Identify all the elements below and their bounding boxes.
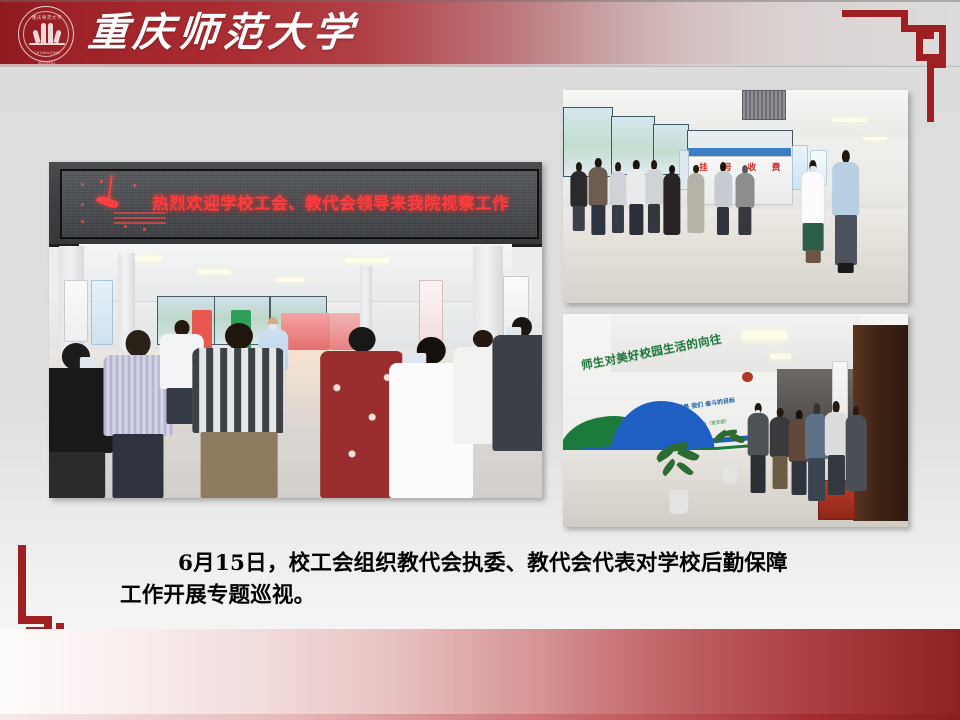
slide-footer-band: [0, 629, 960, 720]
canteen-inspection-photo: 热烈欢迎学校工会、教代会领导来我院视察工作: [49, 162, 542, 498]
person-attendee: [192, 323, 286, 498]
led-banner-screen: 热烈欢迎学校工会、教代会领导来我院视察工作: [60, 169, 539, 240]
person-visitor: [846, 406, 867, 491]
corridor-ceiling: [611, 314, 859, 372]
person-visitor: [610, 162, 627, 232]
person-attendee: [493, 317, 542, 451]
clinic-air-duct: [742, 90, 785, 120]
caption-line-1: 6月15日，校工会组织教代会执委、教代会代表对学校后勤保障: [178, 551, 788, 576]
person-visitor: [646, 160, 663, 232]
mural-emblem: [742, 372, 752, 383]
university-name-wordmark: 重庆师范大学: [85, 4, 360, 62]
presentation-slide: 重庆师范大学 CHONGQING NORMAL UNIVERSITY 重庆师范大…: [0, 0, 960, 720]
person-visitor: [589, 158, 608, 235]
footer-base-line: [0, 714, 960, 720]
person-visitor: [825, 401, 847, 495]
person-visitor: [748, 403, 769, 492]
counter-sign-char: 费: [772, 161, 781, 173]
person-visitor: [687, 165, 704, 233]
canteen-ceiling: [79, 244, 513, 302]
person-visitor: [627, 160, 646, 235]
caption-line-2: 工作开展专题巡视。: [120, 583, 315, 608]
person-visitor: [736, 165, 755, 235]
seal-flame-mark: [33, 19, 61, 43]
person-visitor: [715, 162, 732, 234]
potted-plant: [711, 429, 749, 484]
seal-ring-text-bottom: CHONGQING NORMAL UNIVERSITY: [25, 48, 69, 58]
person-visitor: [570, 162, 587, 230]
potted-plant: [653, 442, 705, 514]
person-guide: [832, 150, 860, 274]
led-banner-text: 热烈欢迎学校工会、教代会领导来我院视察工作: [152, 190, 532, 214]
led-arrow-graphic: [108, 175, 113, 203]
slide-caption: 6月15日，校工会组织教代会执委、教代会代表对学校后勤保障 工作开展专题巡视。: [120, 548, 880, 612]
corridor-mural-photo: 师生对美好校园生活的向往 就是 我们 奋斗的目标 后勤与资产管理处（党支部）: [563, 314, 908, 527]
header-top-rule: [0, 0, 960, 2]
university-seal-icon: 重庆师范大学 CHONGQING NORMAL UNIVERSITY: [18, 6, 74, 62]
clinic-lobby-photo: 挂 号 收 费: [563, 90, 908, 303]
led-banner: 热烈欢迎学校工会、教代会领导来我院视察工作: [49, 162, 542, 247]
person-medical-staff: [801, 160, 825, 262]
slide-header-band: 重庆师范大学 CHONGQING NORMAL UNIVERSITY 重庆师范大…: [0, 0, 960, 66]
person-visitor: [663, 165, 680, 235]
person-visitor: [770, 408, 791, 489]
